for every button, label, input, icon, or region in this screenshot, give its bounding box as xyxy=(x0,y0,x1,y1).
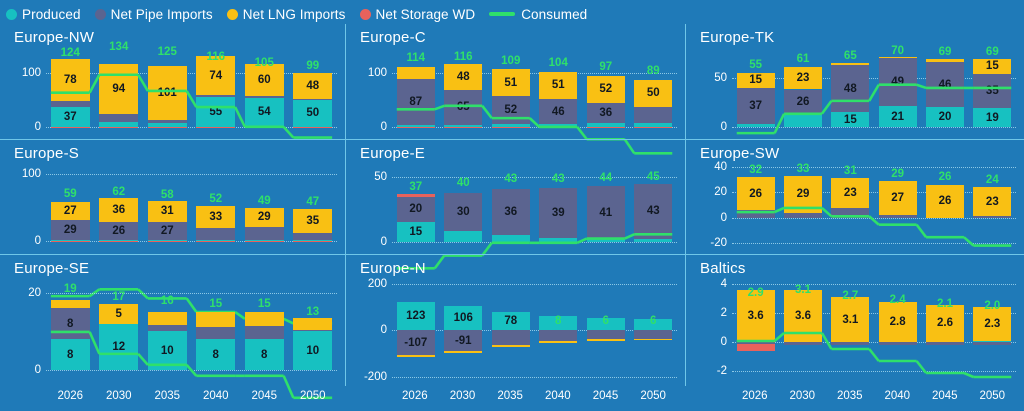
consumed-value-label: 49 xyxy=(258,195,271,207)
panel-baltics: Baltics-20243.63.63.12.82.62.32.93.12.72… xyxy=(685,254,1024,386)
y-axis-tick: 0 xyxy=(381,324,387,336)
consumed-value-label: 2.0 xyxy=(984,300,1000,312)
consumed-value-label: 69 xyxy=(939,46,952,58)
x-axis-tick: 2030 xyxy=(789,390,815,402)
consumed-value-label: 29 xyxy=(891,168,904,180)
consumed-value-label: 105 xyxy=(255,57,274,69)
legend-label: Net Storage WD xyxy=(376,7,476,22)
x-axis-block: 202620302035204020452050 xyxy=(0,386,345,411)
consumed-value-label: 6 xyxy=(603,315,609,327)
consumed-value-label: 125 xyxy=(158,46,177,58)
consumed-value-label: 2.4 xyxy=(890,294,906,306)
consumed-value-label: 13 xyxy=(306,306,319,318)
consumed-value-label: 65 xyxy=(844,50,857,62)
consumed-value-label: 124 xyxy=(61,47,80,59)
chart-legend: ProducedNet Pipe ImportsNet LNG ImportsN… xyxy=(6,2,601,26)
y-axis-tick: 0 xyxy=(35,235,41,247)
panel-grid: Europe-NW0100377894101557454605048124134… xyxy=(0,24,1024,386)
y-axis-tick: -200 xyxy=(364,371,387,383)
consumed-value-label: 43 xyxy=(552,173,565,185)
y-axis-tick: 0 xyxy=(721,121,727,133)
panel-europe-s: Europe-S01002927263627313329355962585249… xyxy=(0,139,345,254)
consumed-value-label: 55 xyxy=(749,59,762,71)
consumed-value-label: 16 xyxy=(161,295,174,307)
x-axis-tick: 2035 xyxy=(837,390,863,402)
consumed-value-label: 43 xyxy=(504,173,517,185)
legend-label: Consumed xyxy=(521,7,587,22)
panel-europe-c: Europe-C01008765485251465136525011411610… xyxy=(345,24,685,139)
consumed-value-label: 3.1 xyxy=(795,284,811,296)
legend-label: Produced xyxy=(22,7,81,22)
x-axis-tick: 2050 xyxy=(979,390,1005,402)
dot-icon xyxy=(6,9,17,20)
x-axis-tick: 2026 xyxy=(742,390,768,402)
consumed-value-label: 89 xyxy=(647,65,660,77)
y-axis-tick: 2 xyxy=(721,307,727,319)
legend-item-net-storage-wd[interactable]: Net Storage WD xyxy=(360,7,476,22)
y-axis-tick: 100 xyxy=(22,67,41,79)
y-axis-tick: 40 xyxy=(714,161,727,173)
plot-area: -2000200123-107106-9178866 xyxy=(392,277,677,380)
x-axis-tick: 2050 xyxy=(300,390,326,402)
consumed-value-label: 61 xyxy=(797,53,810,65)
x-axis-block: 202620302035204020452050 xyxy=(685,386,1024,411)
panel-title: Europe-TK xyxy=(700,29,774,46)
y-axis-tick: 100 xyxy=(368,67,387,79)
consumed-value-label: 31 xyxy=(844,165,857,177)
panel-title: Europe-E xyxy=(360,145,425,162)
x-axis-tick: 2050 xyxy=(640,390,666,402)
consumed-value-label: 2.1 xyxy=(937,298,953,310)
consumed-value-label: 99 xyxy=(306,60,319,72)
y-axis-tick: 0 xyxy=(381,121,387,133)
panel-title: Europe-SW xyxy=(700,145,779,162)
panel-title: Europe-NW xyxy=(14,29,94,46)
consumed-value-label: 2.9 xyxy=(748,287,764,299)
consumed-value-label: 37 xyxy=(409,181,422,193)
y-axis-tick: 0 xyxy=(721,336,727,348)
consumed-value-label: 104 xyxy=(549,57,568,69)
consumed-value-label: 59 xyxy=(64,188,77,200)
consumed-value-label: 69 xyxy=(986,46,999,58)
consumed-value-label: 116 xyxy=(454,51,473,63)
panel-title: Baltics xyxy=(700,260,746,277)
consumed-value-label: 44 xyxy=(599,172,612,184)
panel-title: Europe-SE xyxy=(14,260,89,277)
legend-item-net-lng-imports[interactable]: Net LNG Imports xyxy=(227,7,346,22)
consumed-value-label: 45 xyxy=(647,171,660,183)
x-axis-tick: 2026 xyxy=(402,390,428,402)
consumed-value-label: 97 xyxy=(599,61,612,73)
x-axis-block: 202620302035204020452050 xyxy=(345,386,685,411)
panel-europe-se: Europe-SE02088125108810191716151513 xyxy=(0,254,345,386)
legend-item-produced[interactable]: Produced xyxy=(6,7,81,22)
y-axis-tick: -2 xyxy=(717,365,727,377)
consumed-value-label: 114 xyxy=(406,52,425,64)
consumed-value-label: 2.7 xyxy=(842,290,858,302)
consumed-value-label: 70 xyxy=(891,45,904,57)
consumed-value-label: 58 xyxy=(161,189,174,201)
consumed-value-label: 32 xyxy=(749,164,762,176)
y-axis-tick: 100 xyxy=(22,168,41,180)
legend-label: Net Pipe Imports xyxy=(111,7,213,22)
x-axis-tick: 2035 xyxy=(154,390,180,402)
plot-area: 0503715262315482149204619351555616570696… xyxy=(732,46,1016,133)
plot-area: 02088125108810191716151513 xyxy=(46,277,337,380)
legend-label: Net LNG Imports xyxy=(243,7,346,22)
y-axis-tick: 0 xyxy=(381,236,387,248)
legend-item-net-pipe-imports[interactable]: Net Pipe Imports xyxy=(95,7,213,22)
plot-area: -2002040262923272623323331292624 xyxy=(732,162,1016,248)
panel-title: Europe-C xyxy=(360,29,426,46)
panel-title: Europe-N xyxy=(360,260,426,277)
panel-europe-nw: Europe-NW0100377894101557454605048124134… xyxy=(0,24,345,139)
x-axis-tick: 2045 xyxy=(932,390,958,402)
y-axis-tick: 4 xyxy=(721,278,727,290)
plot-area: -20243.63.63.12.82.62.32.93.12.72.42.12.… xyxy=(732,277,1016,380)
x-axis-tick: 2030 xyxy=(106,390,132,402)
consumed-value-label: 19 xyxy=(64,283,77,295)
consumed-value-label: 52 xyxy=(209,193,222,205)
consumed-value-label: 6 xyxy=(650,315,656,327)
consumed-value-label: 24 xyxy=(986,174,999,186)
plot-area: 0100292726362731332935596258524947 xyxy=(46,162,337,248)
consumed-value-label: 15 xyxy=(258,298,271,310)
dot-icon xyxy=(95,9,106,20)
panel-europe-n: Europe-N-2000200123-107106-9178866 xyxy=(345,254,685,386)
consumed-value-label: 33 xyxy=(797,163,810,175)
x-axis-tick: 2045 xyxy=(251,390,277,402)
x-axis-tick: 2040 xyxy=(203,390,229,402)
panel-europe-sw: Europe-SW-200204026292327262332333129262… xyxy=(685,139,1024,254)
dot-icon xyxy=(360,9,371,20)
chart-dashboard: ProducedNet Pipe ImportsNet LNG ImportsN… xyxy=(0,0,1024,411)
y-axis-tick: 20 xyxy=(714,186,727,198)
consumed-value-label: 62 xyxy=(112,186,125,198)
plot-area: 0100377894101557454605048124134125116105… xyxy=(46,46,337,133)
x-axis-tick: 2040 xyxy=(884,390,910,402)
plot-area: 0100876548525146513652501141161091049789 xyxy=(392,46,677,133)
consumed-value-label: 15 xyxy=(209,298,222,310)
panel-title: Europe-S xyxy=(14,145,79,162)
consumed-value-label: 17 xyxy=(112,291,125,303)
x-axis-tick: 2026 xyxy=(57,390,83,402)
consumed-value-label: 109 xyxy=(501,55,520,67)
x-axis-tick: 2045 xyxy=(593,390,619,402)
x-axis-tick: 2035 xyxy=(497,390,523,402)
consumed-value-label: 26 xyxy=(939,171,952,183)
consumed-value-label: 47 xyxy=(306,196,319,208)
y-axis-tick: 50 xyxy=(374,171,387,183)
y-axis-tick: 20 xyxy=(28,287,41,299)
consumed-value-label: 116 xyxy=(206,51,225,63)
consumed-value-label: 134 xyxy=(109,41,128,53)
y-axis-tick: 0 xyxy=(721,212,727,224)
consumed-value-label: 40 xyxy=(457,177,470,189)
y-axis-tick: 0 xyxy=(35,364,41,376)
y-axis-tick: 200 xyxy=(368,278,387,290)
line-icon xyxy=(489,12,515,16)
y-axis-tick: -20 xyxy=(710,237,727,249)
panel-europe-tk: Europe-TK0503715262315482149204619351555… xyxy=(685,24,1024,139)
x-axis-tick: 2040 xyxy=(545,390,571,402)
y-axis-tick: 50 xyxy=(714,72,727,84)
panel-europe-e: Europe-E05015203036394143374043434445 xyxy=(345,139,685,254)
plot-area: 05015203036394143374043434445 xyxy=(392,162,677,248)
x-axis-row: 2026203020352040204520502026203020352040… xyxy=(0,386,1024,411)
x-axis-tick: 2030 xyxy=(450,390,476,402)
y-axis-tick: 0 xyxy=(35,121,41,133)
legend-item-consumed[interactable]: Consumed xyxy=(489,7,587,22)
consumed-value-label: 8 xyxy=(555,315,561,327)
dot-icon xyxy=(227,9,238,20)
